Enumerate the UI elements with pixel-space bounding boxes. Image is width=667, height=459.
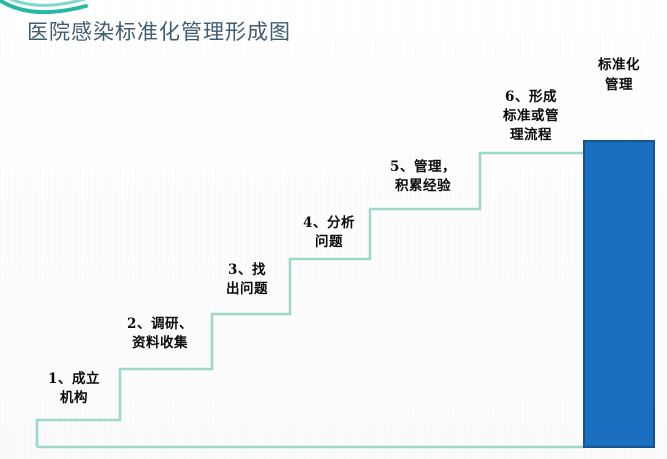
- step-label-6: 6、形成 标准或管 理流程: [480, 88, 582, 145]
- page-title: 医院感染标准化管理形成图: [27, 16, 291, 46]
- step-label-3: 3、找 出问题: [206, 261, 288, 299]
- slide-canvas: 医院感染标准化管理形成图 1、成立 机构 2、调研、 资料收集 3、找 出问题 …: [0, 0, 667, 459]
- step-label-1: 1、成立 机构: [26, 370, 122, 408]
- result-bar: [583, 140, 655, 448]
- step-label-4: 4、分析 问题: [284, 214, 374, 252]
- step-label-2: 2、调研、 资料收集: [108, 315, 212, 353]
- step-label-5: 5、管理， 积累经验: [368, 158, 478, 196]
- result-bar-label: 标准化 管理: [580, 56, 658, 95]
